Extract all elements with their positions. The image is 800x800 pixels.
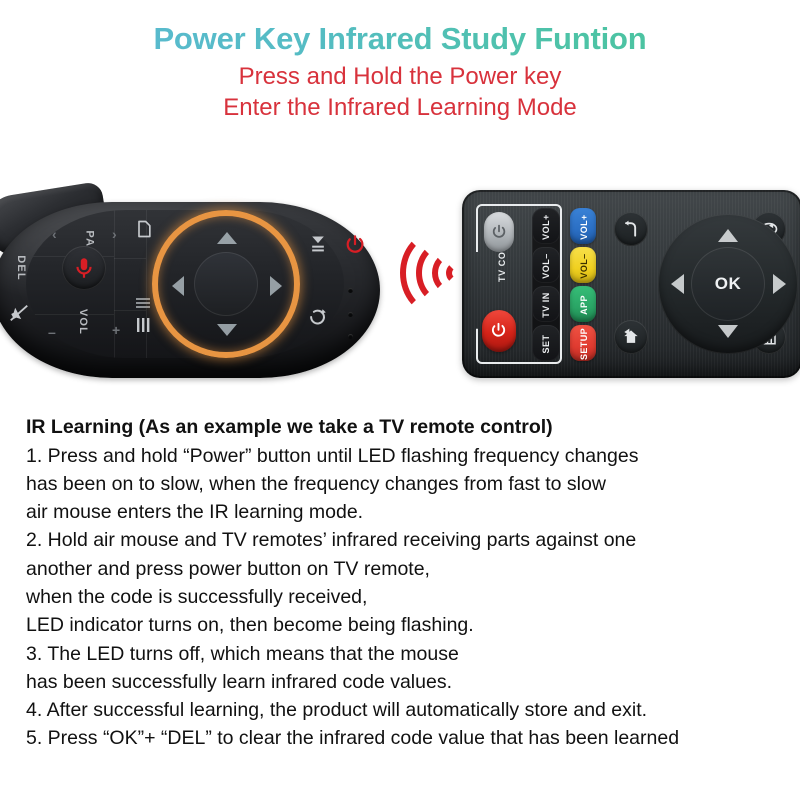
tv-dpad-right-arrow[interactable]	[773, 274, 786, 294]
keyboard-hide-icon[interactable]	[308, 234, 328, 259]
vol-up-label: VOL+	[579, 208, 589, 246]
vol-down-label: VOL–	[579, 247, 589, 285]
instruction-line: LED indicator turns on, then become bein…	[26, 611, 786, 639]
tv-dpad-up-arrow[interactable]	[718, 229, 738, 242]
setup-label: SETUP	[579, 325, 589, 363]
vol-plus-label[interactable]: +	[112, 322, 120, 338]
instructions-block: IR Learning (As an example we take a TV …	[26, 414, 786, 753]
microphone-button[interactable]	[62, 246, 106, 290]
menu-lines-icon[interactable]	[136, 318, 152, 337]
vol-button-label[interactable]: VOL	[77, 309, 89, 335]
tv-dpad-down-arrow[interactable]	[718, 325, 738, 338]
instruction-line: has been successfully learn infrared cod…	[26, 668, 786, 696]
subtitle-line-2: Enter the Infrared Learning Mode	[0, 93, 800, 124]
back-icon[interactable]	[134, 218, 154, 245]
ir-learning-heading: IR Learning (As an example we take a TV …	[26, 414, 786, 442]
dpad-center-ok-button[interactable]	[194, 252, 258, 316]
mute-icon[interactable]	[8, 302, 30, 329]
instruction-line: has been on to slow, when the frequency …	[26, 470, 786, 498]
keypad-divider	[26, 314, 114, 315]
devices-illustration: DEL PAGE ‹ › VOL – +	[0, 170, 800, 400]
instruction-line: when the code is successfully received,	[26, 583, 786, 611]
tv-remote-control: TV CONTROL VOL+ VOL– TV IN SET VOL+	[462, 190, 800, 380]
tv-power-grey-button[interactable]	[484, 212, 514, 252]
list-icon[interactable]	[136, 296, 152, 314]
tv-power-red-button[interactable]	[482, 310, 516, 352]
mouse-pointer-icon[interactable]	[306, 306, 330, 333]
led-indicator-dot	[348, 312, 353, 317]
back-button[interactable]	[614, 212, 648, 246]
tv-dpad-left-arrow[interactable]	[671, 274, 684, 294]
tv-vol-down-label: VOL–	[541, 248, 551, 284]
instruction-line: another and press power button on TV rem…	[26, 555, 786, 583]
home-button[interactable]	[614, 320, 648, 354]
subtitle-line-1: Press and Hold the Power key	[0, 62, 800, 93]
power-icon[interactable]	[344, 234, 366, 261]
page-title: Power Key Infrared Study Funtion	[0, 22, 800, 56]
instruction-line: 2. Hold air mouse and TV remotes’ infrar…	[26, 526, 786, 554]
header: Power Key Infrared Study Funtion Press a…	[0, 0, 800, 124]
tv-in-label: TV IN	[541, 287, 551, 323]
tv-vol-up-label: VOL+	[541, 209, 551, 245]
dpad-down-arrow[interactable]	[217, 324, 237, 336]
instruction-line: 4. After successful learning, the produc…	[26, 696, 786, 724]
instruction-line: 1. Press and hold “Power” button until L…	[26, 442, 786, 470]
dpad-left-arrow[interactable]	[172, 276, 184, 296]
dpad-right-arrow[interactable]	[270, 276, 282, 296]
keypad-divider	[114, 258, 146, 259]
page-prev-chevron[interactable]: ‹	[52, 226, 57, 242]
tv-set-label: SET	[541, 326, 551, 362]
instruction-line: air mouse enters the IR learning mode.	[26, 498, 786, 526]
del-button-label[interactable]: DEL	[15, 255, 27, 281]
page-next-chevron[interactable]: ›	[112, 226, 117, 242]
air-mouse-remote: DEL PAGE ‹ › VOL – +	[0, 184, 382, 384]
dpad-up-arrow[interactable]	[217, 232, 237, 244]
infrared-signal-waves	[400, 228, 470, 316]
vol-minus-label[interactable]: –	[48, 324, 56, 340]
app-label: APP	[579, 286, 589, 324]
instruction-line: 5. Press “OK”+ “DEL” to clear the infrar…	[26, 724, 786, 752]
led-indicator-dot	[348, 288, 353, 293]
led-indicator-dot	[348, 334, 353, 339]
instruction-line: 3. The LED turns off, which means that t…	[26, 640, 786, 668]
tv-ok-button[interactable]: OK	[691, 247, 765, 321]
